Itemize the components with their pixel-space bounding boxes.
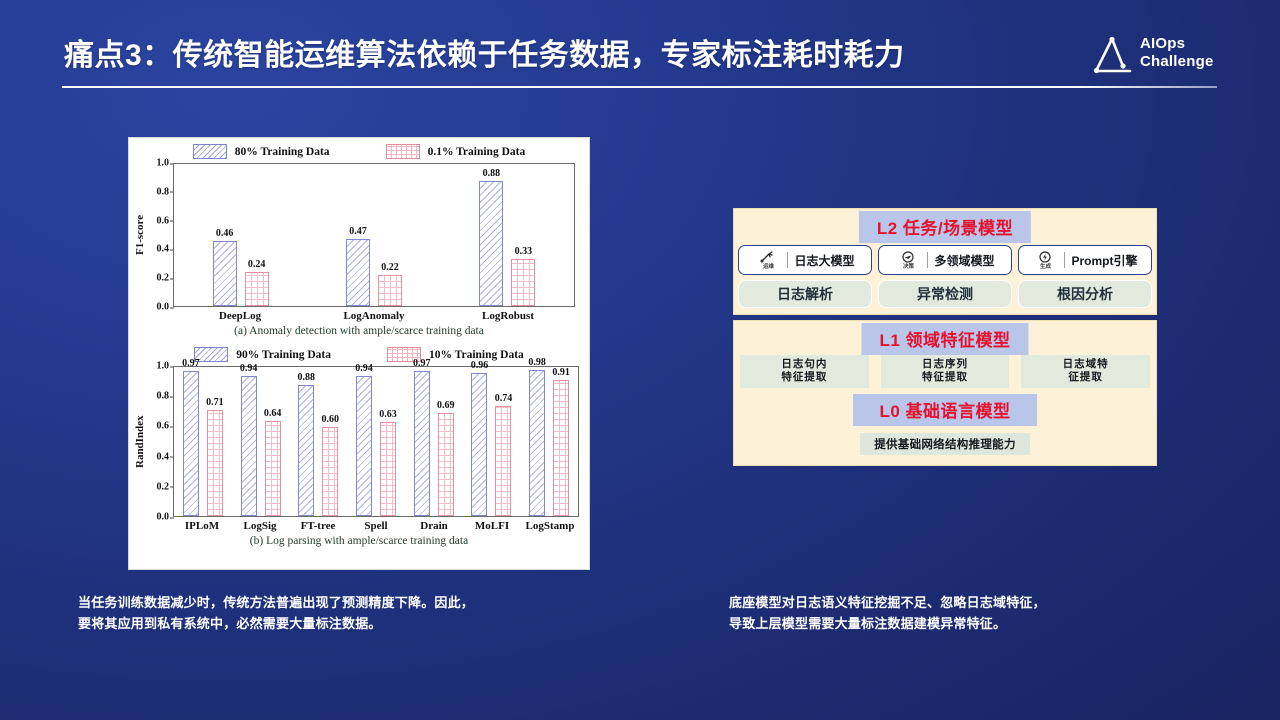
- bar-value-label: 0.60: [322, 414, 340, 425]
- y-tick: 0.2: [157, 273, 170, 284]
- x-tick-label: LogSig: [231, 517, 289, 532]
- bar-group: 0.980.91: [520, 367, 578, 516]
- l0-level-badge: L0 基础语言模型: [853, 394, 1036, 426]
- legend-swatch-pink: [386, 144, 420, 159]
- decision-plane-icon: 决策: [895, 251, 921, 270]
- bar-group: 0.940.64: [232, 367, 290, 516]
- bar-value-label: 0.24: [248, 259, 266, 270]
- chip-label: 多领域模型: [934, 252, 994, 269]
- feature-intra-sentence[interactable]: 日志句内特征提取: [740, 355, 869, 388]
- bar-value-label: 0.94: [355, 363, 373, 374]
- function-anomaly-detection[interactable]: 异常检测: [878, 280, 1012, 308]
- bar-group: 0.470.22: [307, 164, 440, 306]
- y-tick: 0.6: [157, 215, 170, 226]
- y-tick: 0.4: [157, 244, 170, 255]
- bar: 0.47: [346, 239, 370, 306]
- l2-title-row: L2 任务/场景模型: [734, 209, 1156, 241]
- x-tick-label: FT-tree: [289, 517, 347, 532]
- x-tick-label: LogStamp: [521, 517, 579, 532]
- bar: 0.60: [322, 427, 338, 516]
- y-tick: 1.0: [157, 361, 170, 372]
- l2-card: L2 任务/场景模型 运维 日志大模型: [733, 208, 1157, 315]
- chip-label: Prompt引擎: [1071, 252, 1137, 269]
- chart-b-x-labels: IPLoMLogSigFT-treeSpellDrainMoLFILogStam…: [129, 517, 589, 532]
- legend-label: 90% Training Data: [236, 349, 331, 361]
- x-tick-label: LogAnomaly: [307, 307, 441, 322]
- feature-sequence[interactable]: 日志序列特征提取: [881, 355, 1010, 388]
- chart-a-y-axis: 1.0 0.8 0.6 0.4 0.2 0.0: [147, 163, 173, 307]
- bar-group: 0.960.74: [463, 367, 521, 516]
- chart-a-legend: 80% Training Data 0.1% Training Data: [129, 138, 589, 159]
- chart-b-y-axis: 1.0 0.8 0.6 0.4 0.2 0.0: [147, 366, 173, 517]
- bar-group: 0.970.69: [405, 367, 463, 516]
- chip-icon-label: 生成: [1040, 264, 1051, 270]
- chart-b-plot-area: 0.970.710.940.640.880.600.940.630.970.69…: [173, 366, 579, 517]
- bar-group: 0.460.24: [174, 164, 307, 306]
- page-header: 痛点3：传统智能运维算法依赖于任务数据，专家标注耗时耗力 AIOps Chall…: [0, 0, 1280, 96]
- x-tick-label: MoLFI: [463, 517, 521, 532]
- bar-value-label: 0.74: [495, 393, 513, 404]
- y-tick: 0.8: [157, 186, 170, 197]
- l0-capability-row: 提供基础网络结构推理能力: [734, 426, 1156, 465]
- l1-feature-boxes: 日志句内特征提取 日志序列特征提取 日志域特征提取: [734, 353, 1156, 388]
- chip-icon-label: 运维: [763, 264, 774, 270]
- bar: 0.71: [207, 410, 223, 516]
- chip-divider: [927, 252, 928, 268]
- legend-item: 10% Training Data: [387, 347, 524, 362]
- bar-group: 0.880.60: [289, 367, 347, 516]
- aiops-challenge-logo: AIOps Challenge: [1092, 33, 1217, 81]
- l2-level-badge: L2 任务/场景模型: [859, 211, 1031, 243]
- chip-divider: [1064, 252, 1065, 268]
- function-log-parsing[interactable]: 日志解析: [738, 280, 872, 308]
- bar-value-label: 0.22: [381, 262, 399, 273]
- x-tick-label: DeepLog: [173, 307, 307, 322]
- l2-function-boxes: 日志解析 异常检测 根因分析: [734, 275, 1156, 314]
- l2-model-chips: 运维 日志大模型 决策 多领域模型: [734, 241, 1156, 275]
- y-tick: 0.8: [157, 391, 170, 402]
- bar: 0.33: [511, 259, 535, 306]
- bar-value-label: 0.88: [298, 372, 316, 383]
- bar-group: 0.940.63: [347, 367, 405, 516]
- bar: 0.88: [298, 385, 314, 516]
- note-right: 底座模型对日志语义特征挖掘不足、忽略日志域特征，导致上层模型需要大量标注数据建模…: [729, 592, 1229, 634]
- chip-multi-domain-model[interactable]: 决策 多领域模型: [878, 245, 1012, 275]
- y-tick: 0.6: [157, 421, 170, 432]
- x-tick-label: Drain: [405, 517, 463, 532]
- y-tick: 0.2: [157, 481, 170, 492]
- bar-value-label: 0.97: [413, 358, 431, 369]
- feature-domain[interactable]: 日志域特征提取: [1021, 355, 1150, 388]
- l1-title-row: L1 领域特征模型: [734, 321, 1156, 353]
- bar: 0.46: [213, 241, 237, 306]
- bar-value-label: 0.69: [437, 400, 455, 411]
- l0-capability-label: 提供基础网络结构推理能力: [860, 433, 1030, 455]
- bar-value-label: 0.33: [515, 246, 533, 257]
- chart-b-caption: (b) Log parsing with ample/scarce traini…: [129, 532, 589, 547]
- function-root-cause-analysis[interactable]: 根因分析: [1018, 280, 1152, 308]
- title-divider: [62, 86, 1217, 88]
- bar-value-label: 0.46: [216, 228, 234, 239]
- generate-bolt-icon: 生成: [1032, 251, 1058, 270]
- bar-value-label: 0.63: [379, 409, 397, 420]
- bar: 0.96: [471, 373, 487, 516]
- bar-value-label: 0.91: [552, 367, 570, 378]
- legend-item: 90% Training Data: [194, 347, 331, 362]
- chart-log-parsing: 90% Training Data 10% Training Data Rand…: [129, 341, 589, 547]
- ops-antenna-icon: 运维: [755, 251, 781, 270]
- x-tick-label: IPLoM: [173, 517, 231, 532]
- bar: 0.91: [553, 380, 569, 516]
- bar-value-label: 0.71: [206, 397, 224, 408]
- bar: 0.94: [356, 376, 372, 516]
- legend-label: 0.1% Training Data: [428, 146, 526, 158]
- legend-item: 80% Training Data: [193, 144, 330, 159]
- l1-l0-card: L1 领域特征模型 日志句内特征提取 日志序列特征提取 日志域特征提取 L0 基…: [733, 320, 1157, 466]
- bar: 0.88: [479, 181, 503, 306]
- chip-prompt-engine[interactable]: 生成 Prompt引擎: [1018, 245, 1152, 275]
- bar-value-label: 0.64: [264, 408, 282, 419]
- legend-label: 80% Training Data: [235, 146, 330, 158]
- x-tick-label: Spell: [347, 517, 405, 532]
- bar-value-label: 0.88: [483, 168, 501, 179]
- architecture-diagram: L2 任务/场景模型 运维 日志大模型: [733, 208, 1157, 491]
- bar: 0.97: [183, 371, 199, 516]
- bar-value-label: 0.47: [349, 226, 367, 237]
- bar-group: 0.970.71: [174, 367, 232, 516]
- chip-icon-label: 决策: [903, 264, 914, 270]
- bar: 0.22: [378, 275, 402, 306]
- chart-a-y-axis-label: F1-score: [133, 163, 147, 307]
- bar-value-label: 0.97: [182, 358, 200, 369]
- bar: 0.69: [438, 413, 454, 516]
- bar-group: 0.880.33: [441, 164, 574, 306]
- bar-value-label: 0.94: [240, 363, 258, 374]
- chart-b-y-axis-label: RandIndex: [133, 366, 147, 517]
- l0-title-row: L0 基础语言模型: [734, 388, 1156, 426]
- bar: 0.97: [414, 371, 430, 516]
- logo-wordmark: AIOps Challenge: [1140, 35, 1213, 71]
- bar: 0.94: [241, 376, 257, 516]
- x-tick-label: LogRobust: [441, 307, 575, 322]
- legend-swatch-blue: [193, 144, 227, 159]
- chart-a-caption: (a) Anomaly detection with ample/scarce …: [129, 322, 589, 337]
- page-title: 痛点3：传统智能运维算法依赖于任务数据，专家标注耗时耗力: [64, 30, 905, 74]
- bar: 0.63: [380, 422, 396, 516]
- chart-anomaly-detection: 80% Training Data 0.1% Training Data F1-…: [129, 138, 589, 337]
- chart-a-plot-area: 0.460.240.470.220.880.33: [173, 163, 575, 307]
- y-tick: 0.0: [157, 302, 170, 313]
- legend-item: 0.1% Training Data: [386, 144, 526, 159]
- note-left: 当任务训练数据减少时，传统方法普遍出现了预测精度下降。因此，要将其应用到私有系统…: [78, 592, 668, 634]
- bar: 0.24: [245, 272, 269, 306]
- chart-a-x-labels: DeepLogLogAnomalyLogRobust: [129, 307, 589, 322]
- chip-label: 日志大模型: [794, 252, 854, 269]
- chip-log-large-model[interactable]: 运维 日志大模型: [738, 245, 872, 275]
- aiops-triangle-network-icon: [1092, 36, 1134, 76]
- y-tick: 0.0: [157, 512, 170, 523]
- bar: 0.74: [495, 406, 511, 516]
- l1-level-badge: L1 领域特征模型: [861, 323, 1028, 355]
- logo-line-1: AIOps: [1140, 35, 1213, 53]
- bar: 0.98: [529, 370, 545, 516]
- legend-label: 10% Training Data: [429, 349, 524, 361]
- y-tick: 1.0: [157, 158, 170, 169]
- chip-divider: [787, 252, 788, 268]
- bar-value-label: 0.98: [528, 357, 546, 368]
- bar-value-label: 0.96: [471, 360, 489, 371]
- y-tick: 0.4: [157, 451, 170, 462]
- bar: 0.64: [265, 421, 281, 516]
- charts-panel: 80% Training Data 0.1% Training Data F1-…: [128, 137, 590, 570]
- logo-line-2: Challenge: [1140, 53, 1213, 71]
